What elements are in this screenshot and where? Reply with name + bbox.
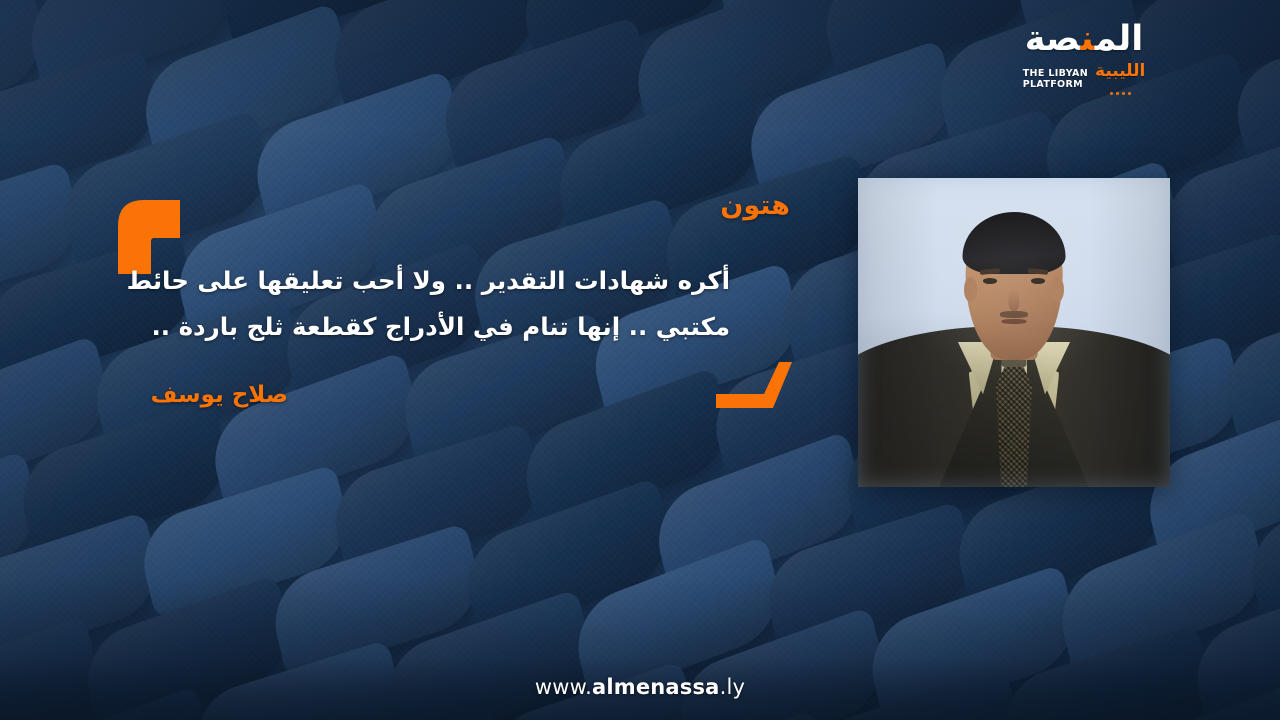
quote-text: أكره شهادات التقدير .. ولا أحب تعليقها ع…	[60, 258, 730, 350]
url-name: almenassa	[592, 675, 720, 699]
logo-subtitle: الليبية THE LIBYAN PLATFORM	[984, 63, 1184, 95]
logo-subtitle-arabic: الليبية	[1095, 63, 1145, 80]
url-prefix: www.	[535, 675, 592, 699]
quote-close-bracket-icon	[716, 362, 792, 408]
logo-dots-icon	[1110, 92, 1131, 95]
author-portrait-photo	[858, 178, 1170, 487]
logo-subtitle-english-line2: PLATFORM	[1023, 79, 1083, 90]
url-tld: .ly	[720, 675, 746, 699]
author-name: صلاح يوسف	[0, 382, 288, 410]
brand-logo[interactable]: المنصة الليبية THE LIBYAN PLATFORM	[984, 22, 1184, 95]
portrait-soft-edge	[858, 178, 1170, 487]
logo-subtitle-english-line1: THE LIBYAN	[1023, 68, 1088, 79]
logo-wordmark: المنصة	[984, 22, 1184, 57]
quote-card-canvas: المنصة الليبية THE LIBYAN PLATFORM هتون …	[0, 0, 1280, 720]
quote-line-2: مكتبي .. إنها تنام في الأدراج كقطعة ثلج …	[60, 304, 730, 350]
quote-line-1: أكره شهادات التقدير .. ولا أحب تعليقها ع…	[127, 266, 730, 295]
logo-subtitle-english: THE LIBYAN PLATFORM	[1023, 68, 1088, 90]
footer-website-url[interactable]: www.almenassa.ly	[0, 677, 1280, 698]
